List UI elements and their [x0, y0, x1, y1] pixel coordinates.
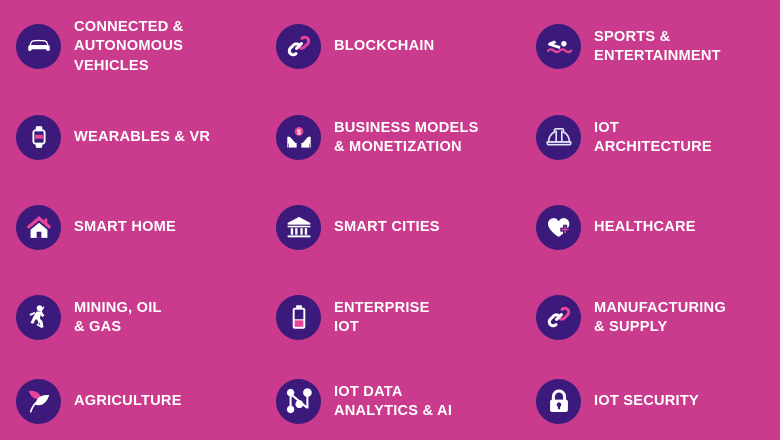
- category-item-connected-autonomous-vehicles[interactable]: CONNECTED & AUTONOMOUS VEHICLES: [0, 0, 260, 92]
- category-item-enterprise-iot[interactable]: ENTERPRISE IOT: [260, 272, 520, 362]
- iot-categories-board: CONNECTED & AUTONOMOUS VEHICLES BLOCKCHA…: [0, 0, 780, 440]
- hard-hat-icon: [536, 115, 581, 160]
- house-icon: [16, 205, 61, 250]
- classical-building-icon: [276, 205, 321, 250]
- chain-link-icon: [276, 24, 321, 69]
- category-label: IOT SECURITY: [594, 391, 699, 410]
- category-label: SMART HOME: [74, 217, 176, 236]
- category-label: BUSINESS MODELS & MONETIZATION: [334, 118, 479, 157]
- category-item-wearables-vr[interactable]: WEARABLES & VR: [0, 92, 260, 182]
- category-item-iot-architecture[interactable]: IOT ARCHITECTURE: [520, 92, 780, 182]
- category-label: BLOCKCHAIN: [334, 36, 434, 55]
- category-item-sports-entertainment[interactable]: SPORTS & ENTERTAINMENT: [520, 0, 780, 92]
- heart-cross-icon: [536, 205, 581, 250]
- leaf-sprout-icon: [16, 379, 61, 424]
- category-label: MANUFACTURING & SUPPLY: [594, 298, 726, 337]
- padlock-icon: [536, 379, 581, 424]
- category-item-blockchain[interactable]: BLOCKCHAIN: [260, 0, 520, 92]
- category-label: IOT DATA ANALYTICS & AI: [334, 382, 452, 421]
- swimmer-icon: [536, 24, 581, 69]
- category-label: SMART CITIES: [334, 217, 440, 236]
- category-label: SPORTS & ENTERTAINMENT: [594, 27, 721, 66]
- category-label: IOT ARCHITECTURE: [594, 118, 712, 157]
- category-label: HEALTHCARE: [594, 217, 696, 236]
- category-label: ENTERPRISE IOT: [334, 298, 430, 337]
- hands-holding-coin-icon: $: [276, 115, 321, 160]
- category-label: WEARABLES & VR: [74, 127, 210, 146]
- category-grid: CONNECTED & AUTONOMOUS VEHICLES BLOCKCHA…: [0, 0, 780, 440]
- category-item-iot-security[interactable]: IOT SECURITY: [520, 362, 780, 440]
- miner-pickaxe-icon: [16, 295, 61, 340]
- category-item-agriculture[interactable]: AGRICULTURE: [0, 362, 260, 440]
- category-item-smart-home[interactable]: SMART HOME: [0, 182, 260, 272]
- category-label: CONNECTED & AUTONOMOUS VEHICLES: [74, 17, 184, 75]
- chain-link-icon: [536, 295, 581, 340]
- smartwatch-icon: [16, 115, 61, 160]
- category-item-business-models-monetization[interactable]: $ BUSINESS MODELS & MONETIZATION: [260, 92, 520, 182]
- category-item-mining-oil-gas[interactable]: MINING, OIL & GAS: [0, 272, 260, 362]
- car-icon: [16, 24, 61, 69]
- category-label: MINING, OIL & GAS: [74, 298, 162, 337]
- category-item-manufacturing-supply[interactable]: MANUFACTURING & SUPPLY: [520, 272, 780, 362]
- battery-icon: [276, 295, 321, 340]
- network-nodes-icon: [276, 379, 321, 424]
- category-item-iot-data-analytics-ai[interactable]: IOT DATA ANALYTICS & AI: [260, 362, 520, 440]
- category-item-healthcare[interactable]: HEALTHCARE: [520, 182, 780, 272]
- svg-text:$: $: [297, 129, 301, 136]
- category-item-smart-cities[interactable]: SMART CITIES: [260, 182, 520, 272]
- category-label: AGRICULTURE: [74, 391, 182, 410]
